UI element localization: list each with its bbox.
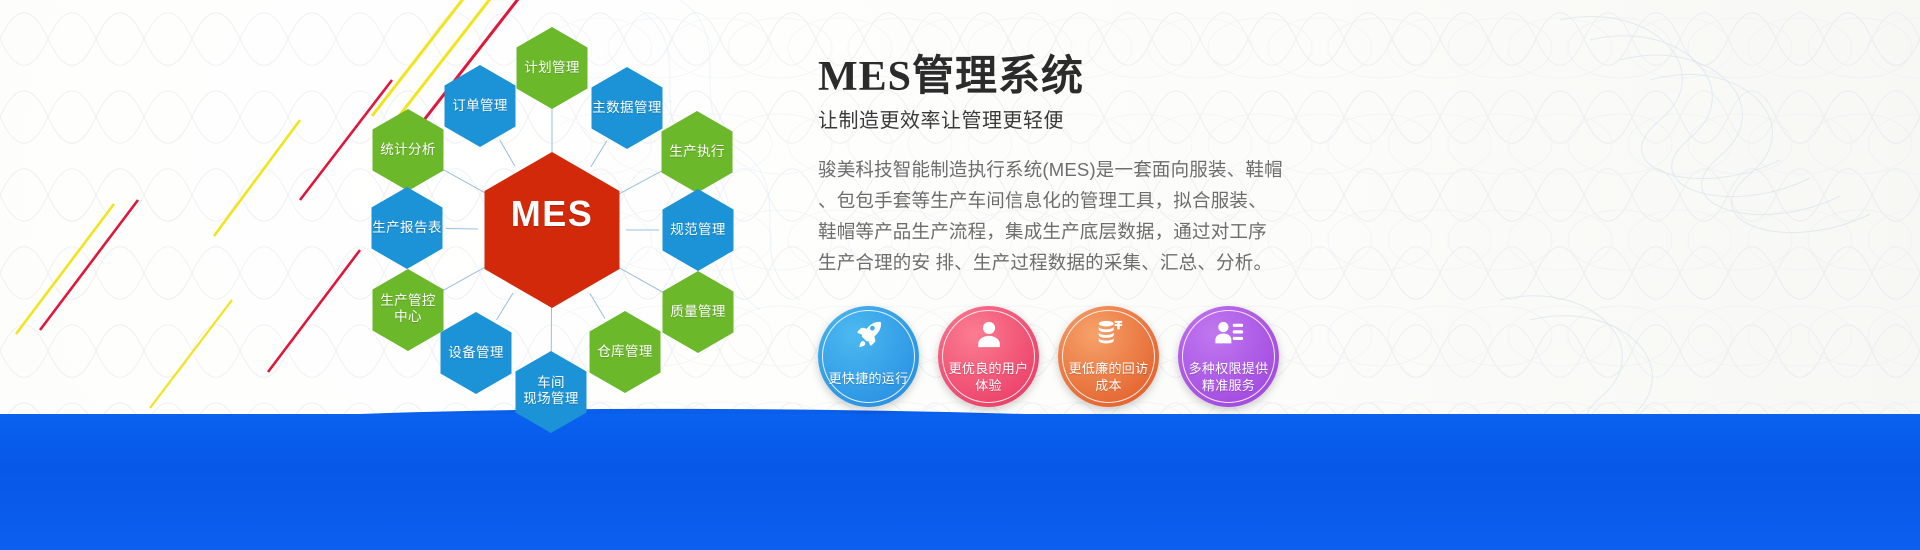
hex-connector [617, 170, 662, 194]
coins-icon [1094, 319, 1124, 349]
feature-badge-label: 更优良的用户 体验 [949, 360, 1029, 394]
hex-connector [590, 294, 605, 319]
feature-badge-4[interactable]: 多种权限提供 精准服务 [1178, 306, 1279, 407]
rocket-icon [854, 319, 884, 349]
feature-badge-label: 更低廉的回访 成本 [1069, 360, 1149, 394]
hex-node-9[interactable] [663, 271, 734, 353]
mes-banner: 计划管理订单管理主数据管理统计分析生产执行生产报告表规范管理生产管控 中心质量管… [0, 0, 1920, 550]
description-paragraph: 骏美科技智能制造执行系统(MES)是一套面向服装、鞋帽、包包手套等生产车间信息化… [818, 154, 1288, 278]
hex-node-11[interactable] [590, 311, 661, 393]
feature-badge-label: 多种权限提供 精准服务 [1189, 360, 1269, 394]
copy-block: MES管理系统 让制造更效率让管理更轻便 骏美科技智能制造执行系统(MES)是一… [818, 52, 1518, 278]
feature-badge-2[interactable]: 更优良的用户 体验 [938, 306, 1039, 407]
hex-node-1[interactable] [517, 27, 588, 109]
mes-hex-diagram: 计划管理订单管理主数据管理统计分析生产执行生产报告表规范管理生产管控 中心质量管… [320, 10, 790, 440]
feature-badge-1[interactable]: 更快捷的运行 [818, 306, 919, 407]
description-line: 、包包手套等生产车间信息化的管理工具，拟合服装、 [818, 185, 1288, 216]
hex-connector [442, 266, 487, 291]
feature-badges: 更快捷的运行更优良的用户 体验更低廉的回访 成本多种权限提供 精准服务 [818, 306, 1279, 407]
hex-connector [496, 293, 513, 320]
hex-connector [617, 266, 664, 293]
background-blue-band [0, 414, 1920, 550]
hex-diagram-svg [320, 10, 790, 440]
hex-connector [442, 169, 487, 194]
hex-node-8[interactable] [373, 269, 444, 351]
feature-badge-label: 更快捷的运行 [829, 370, 909, 387]
hex-node-2[interactable] [445, 65, 516, 147]
hex-node-5[interactable] [662, 111, 733, 193]
hex-node-3[interactable] [592, 67, 663, 149]
hex-node-10[interactable] [441, 312, 512, 394]
hex-node-6[interactable] [372, 187, 443, 269]
hex-node-7[interactable] [663, 189, 734, 271]
hex-center-node[interactable] [485, 152, 620, 308]
description-line: 骏美科技智能制造执行系统(MES)是一套面向服装、鞋帽 [818, 154, 1288, 185]
description-line: 鞋帽等产品生产流程，集成生产底层数据，通过对工序 [818, 216, 1288, 247]
hex-node-4[interactable] [373, 109, 444, 191]
user-icon [974, 319, 1004, 349]
page-title: MES管理系统 [818, 52, 1518, 102]
feature-badge-3[interactable]: 更低廉的回访 成本 [1058, 306, 1159, 407]
hex-connector [500, 140, 515, 166]
description-line: 生产合理的安 排、生产过程数据的采集、汇总、分析。 [818, 247, 1288, 278]
page-subtitle: 让制造更效率让管理更轻便 [818, 108, 1518, 134]
contact-icon [1214, 319, 1244, 349]
hex-connector [591, 141, 607, 167]
hex-node-12[interactable] [516, 351, 587, 433]
